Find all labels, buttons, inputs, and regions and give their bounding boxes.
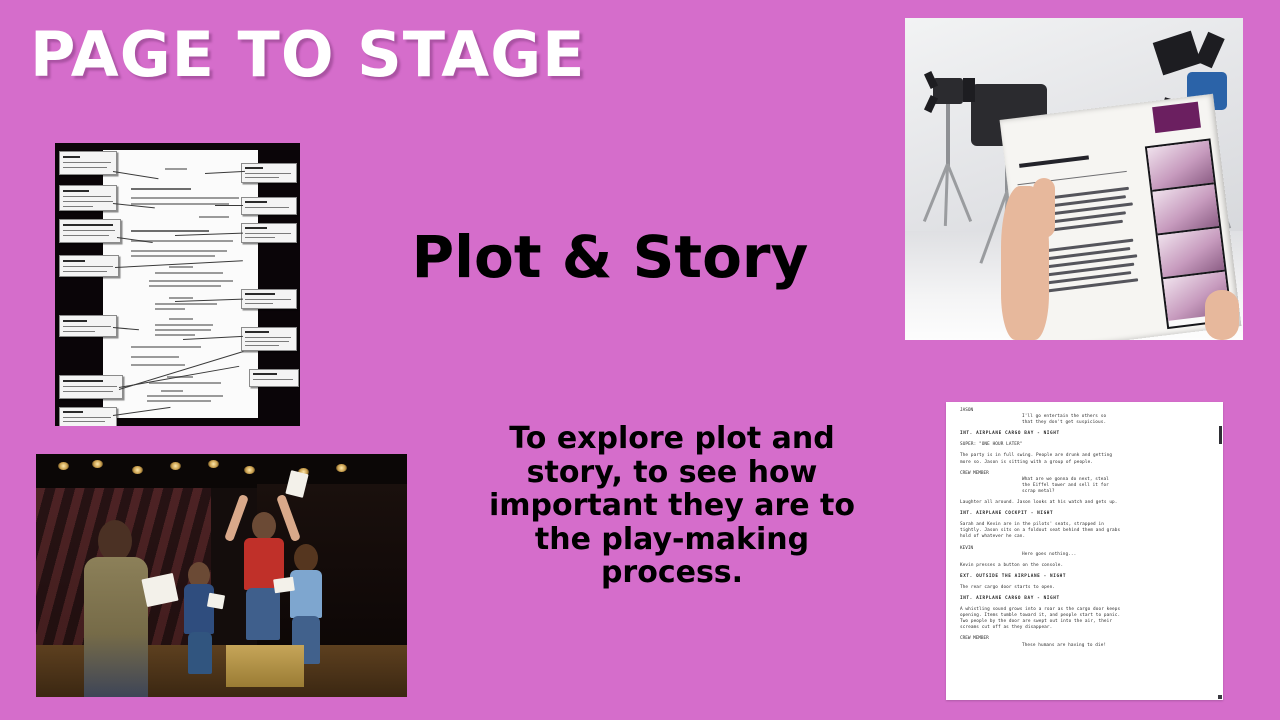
callout-action: [241, 163, 297, 183]
booklet-title-line: [1019, 155, 1089, 168]
callout-fade-in: [59, 151, 117, 175]
drama-rehearsal-photo: [36, 454, 407, 697]
callout-characters-first-appearance: [59, 219, 121, 243]
child-body: [184, 584, 214, 634]
storyboard-panel: [1158, 228, 1225, 279]
callout-page-number: [249, 369, 299, 387]
screenplay-page-image: JASONI'll go entertain the others so tha…: [946, 402, 1223, 700]
callout-more-and-continueds: [59, 375, 123, 399]
callout-parenthetical: [241, 289, 297, 309]
second-hand: [1205, 290, 1239, 340]
callout-dialogue: [241, 223, 297, 243]
directors-script-photo: [905, 18, 1243, 340]
page-title: PAGE TO STAGE: [30, 22, 586, 87]
callout-character: [59, 255, 119, 277]
screenplay-character: CREW MEMBER: [960, 471, 989, 476]
screenplay-character: JASON: [960, 408, 973, 413]
studio-light-left: [933, 78, 963, 104]
storyboard-panel: [1152, 184, 1219, 235]
screenplay-blank-line: [960, 466, 1213, 471]
screenplay-blank-line: [960, 631, 1213, 636]
thumb: [1033, 178, 1055, 238]
callout-scene-heading: [59, 185, 117, 211]
child-head: [294, 544, 318, 572]
scrollbar-end[interactable]: [1218, 695, 1222, 699]
theatre-ceiling: [36, 454, 407, 488]
callout-wrylies: [59, 407, 117, 426]
child-legs: [188, 632, 212, 674]
teacher-body: [84, 557, 148, 697]
screenplay-blank-line: [960, 541, 1213, 546]
slide: PAGE TO STAGE: [0, 0, 1280, 720]
screenplay-action: A whistling sound grows into a roar as t…: [960, 607, 1213, 631]
callout-direction: [241, 197, 297, 215]
screenplay-character: KEVIN: [960, 546, 973, 551]
section-heading: Plot & Story: [390, 226, 830, 290]
screenplay-dialogue: These humans are having to die!: [960, 643, 1213, 649]
child-body: [290, 570, 322, 618]
storyboard-panel: [1147, 141, 1214, 192]
screenplay-action: Sarah and Kevin are in the pilots' seats…: [960, 522, 1213, 540]
screenplay-character: CREW MEMBER: [960, 636, 989, 641]
script-page-sheet: [103, 150, 258, 418]
screenplay-dialogue: I'll go entertain the others so that the…: [960, 414, 1213, 426]
screenplay-text: JASONI'll go entertain the others so tha…: [946, 402, 1223, 700]
child-arm: [224, 494, 249, 542]
child-legs: [246, 588, 280, 640]
objective-text: To explore plot and story, to see how im…: [462, 422, 882, 590]
callout-transition: [59, 315, 117, 337]
screenplay-dialogue: What are we gonna do next, steal the Eif…: [960, 477, 1213, 495]
annotated-script-format-diagram: [55, 143, 300, 426]
booklet-tab: [1152, 102, 1201, 133]
child-head: [252, 512, 276, 540]
screenplay-action: The party is in full swing. People are d…: [960, 453, 1213, 465]
stage-box: [226, 645, 304, 687]
scrollbar-thumb[interactable]: [1219, 426, 1222, 444]
callout-extension: [241, 327, 297, 351]
teacher-head: [98, 520, 132, 562]
